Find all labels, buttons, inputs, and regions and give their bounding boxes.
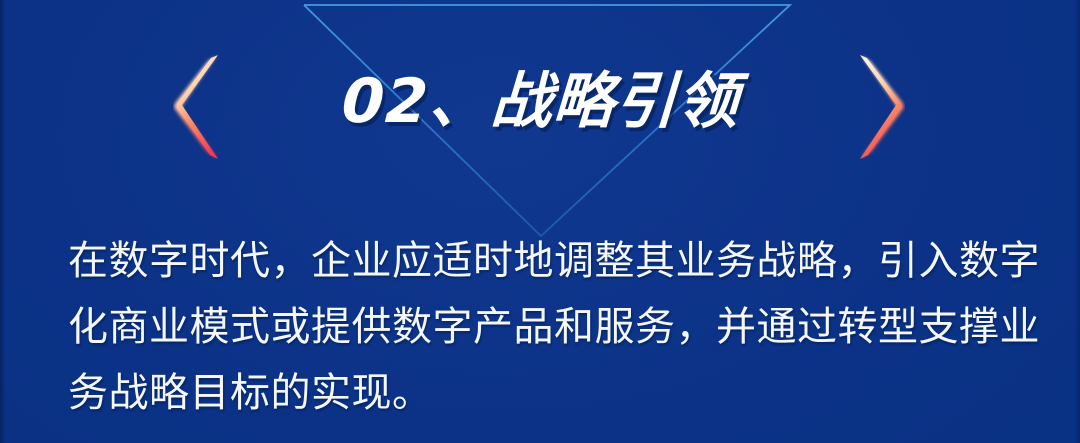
section-title-row: 02、战略引领 [0,58,1080,144]
body-paragraph: 在数字时代，企业应适时地调整其业务战略，引入数字化商业模式或提供数字产品和服务，… [68,228,1040,426]
presentation-slide: 02、战略引领 在数字时代，企业应适时地调整其业务战略，引入数字化商业模式或提供… [0,0,1080,443]
section-title: 02、战略引领 [340,71,740,132]
